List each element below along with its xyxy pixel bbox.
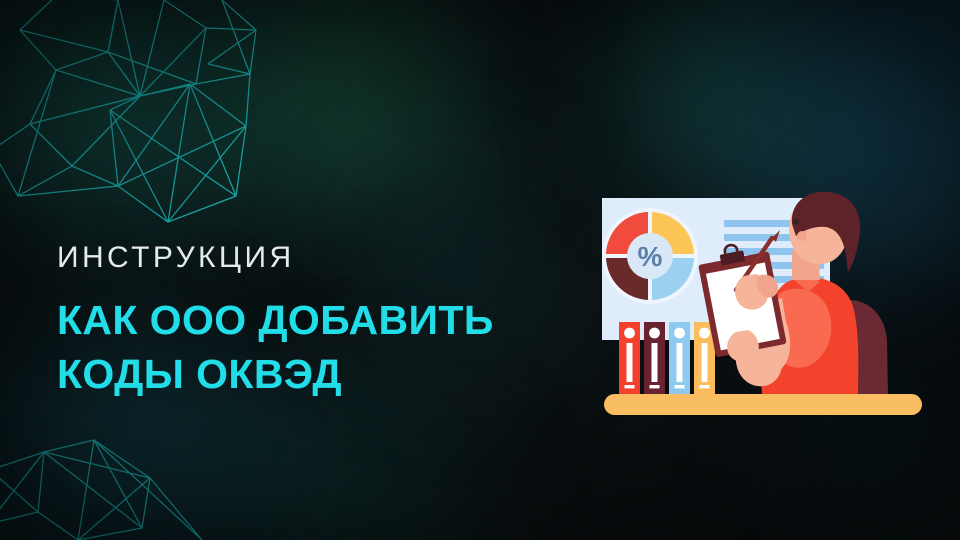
headline-line-2: КОДЫ ОКВЭД: [57, 347, 577, 401]
illustration: %: [586, 180, 936, 430]
pie-chart: %: [602, 208, 698, 304]
binder-3: [669, 322, 690, 394]
pie-center-label: %: [638, 241, 663, 272]
desk: [604, 394, 922, 415]
binder-2: [644, 322, 665, 394]
title-block: ИНСТРУКЦИЯ КАК ООО ДОБАВИТЬ КОДЫ ОКВЭД: [57, 243, 577, 401]
slide-root: ИНСТРУКЦИЯ КАК ООО ДОБАВИТЬ КОДЫ ОКВЭД: [0, 0, 960, 540]
binder-1: [619, 322, 640, 394]
person-ear: [797, 231, 807, 241]
eyebrow-label: ИНСТРУКЦИЯ: [57, 243, 577, 273]
person-eye: [793, 219, 799, 225]
headline-line-1: КАК ООО ДОБАВИТЬ: [57, 293, 577, 347]
